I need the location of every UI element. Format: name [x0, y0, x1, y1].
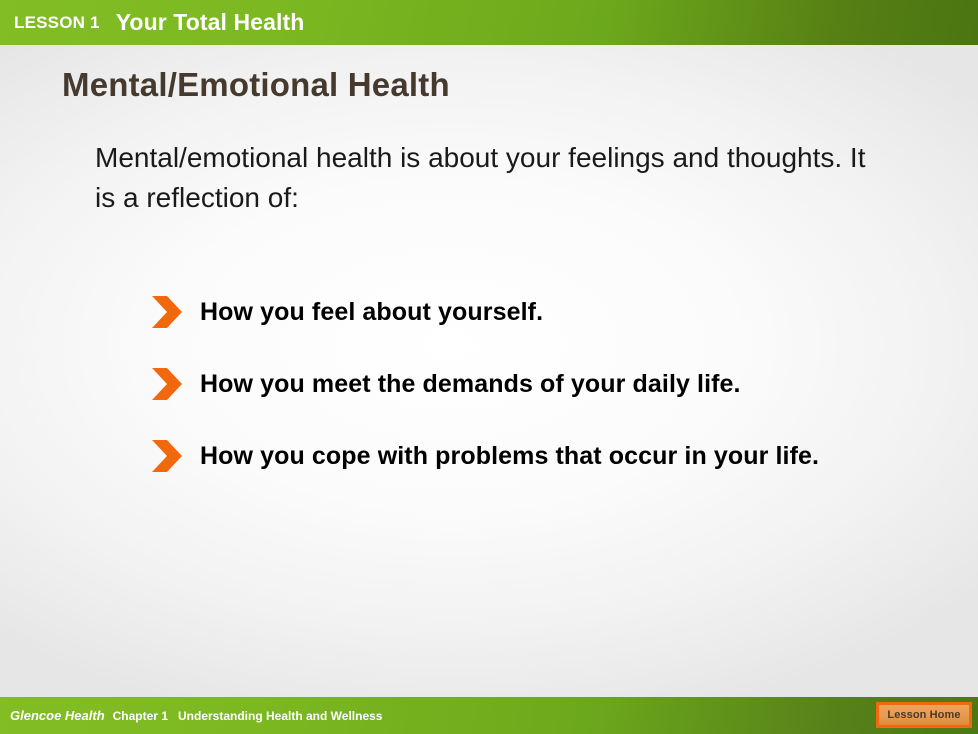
list-item-label: How you cope with problems that occur in…: [200, 440, 819, 473]
list-item: How you feel about yourself.: [152, 292, 912, 332]
lesson-number-label: LESSON 1: [14, 13, 100, 33]
page-title: Mental/Emotional Health: [62, 66, 450, 104]
chevron-right-icon: [152, 292, 186, 332]
slide-footer: Glencoe Health Chapter 1 Understanding H…: [0, 697, 978, 734]
list-item-label: How you feel about yourself.: [200, 296, 543, 329]
footer-brand-label: Glencoe Health: [10, 708, 105, 723]
list-item-label: How you meet the demands of your daily l…: [200, 368, 741, 401]
list-item: How you meet the demands of your daily l…: [152, 364, 912, 404]
chevron-right-icon: [152, 364, 186, 404]
intro-paragraph: Mental/emotional health is about your fe…: [95, 138, 885, 218]
bullet-list: How you feel about yourself. How you mee…: [152, 292, 912, 508]
slide-header: LESSON 1 Your Total Health: [0, 0, 978, 45]
list-item: How you cope with problems that occur in…: [152, 436, 912, 476]
lesson-home-button[interactable]: Lesson Home: [876, 702, 972, 728]
presentation-slide: LESSON 1 Your Total Health Mental/Emotio…: [0, 0, 978, 734]
footer-chapter-label: Chapter 1: [113, 709, 168, 723]
chevron-right-icon: [152, 436, 186, 476]
lesson-title: Your Total Health: [116, 9, 305, 36]
footer-subject-label: Understanding Health and Wellness: [178, 709, 382, 723]
